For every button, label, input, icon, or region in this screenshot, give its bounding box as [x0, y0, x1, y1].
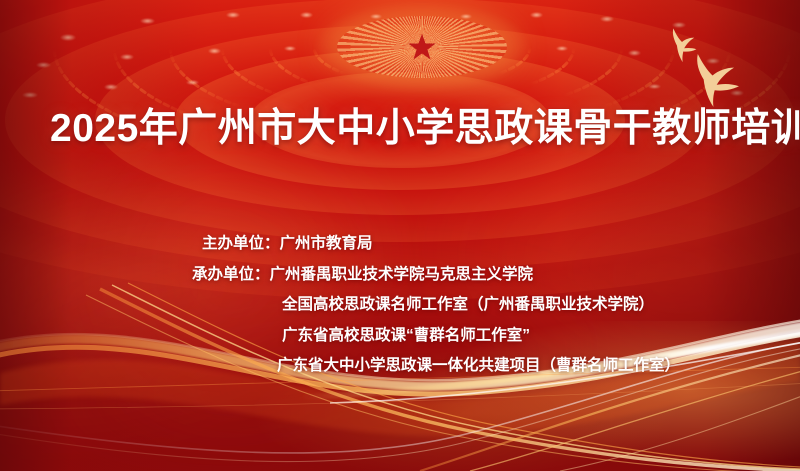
dove-icon-small	[673, 28, 696, 62]
doves-decoration	[646, 18, 766, 108]
credit-line-project-province: 广东省大中小学思政课一体化共建项目（曹群名师工作室）	[0, 358, 800, 374]
credit-line-studio-national: 全国高校思政课名师工作室（广州番禺职业技术学院）	[0, 297, 800, 313]
credit-line-studio-province: 广东省高校思政课“曹群名师工作室”	[0, 328, 800, 344]
training-banner: 2025年广州市大中小学思政课骨干教师培训 主办单位：广州市教育局 承办单位：广…	[0, 0, 800, 471]
credit-line-organizer: 主办单位：广州市教育局	[0, 236, 800, 252]
credits-block: 主办单位：广州市教育局 承办单位：广州番禺职业技术学院马克思主义学院 全国高校思…	[0, 236, 800, 374]
credit-line-co-organizer: 承办单位：广州番禺职业技术学院马克思主义学院	[0, 267, 800, 283]
page-title: 2025年广州市大中小学思政课骨干教师培训	[50, 97, 760, 153]
